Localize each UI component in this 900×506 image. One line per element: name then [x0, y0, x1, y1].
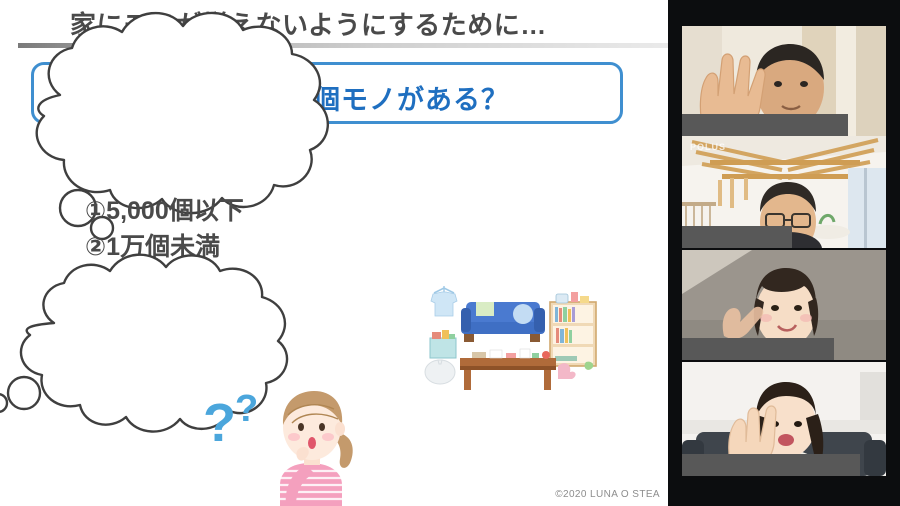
sofa-icon: [461, 302, 545, 342]
participant-4-name-redaction: [682, 454, 860, 476]
screen-root: 家にモノが増えないようにするために… 家の中には何個モノがある？ ①5,000個…: [0, 0, 900, 506]
participant-2-name-redaction: [682, 226, 792, 248]
video-participants-panel: POLUS: [668, 0, 900, 506]
answer-option-1: ①5,000個以下: [85, 193, 335, 229]
svg-text:?: ?: [235, 388, 258, 430]
thinking-woman-illustration: [262, 385, 367, 506]
video-tile-participant-3[interactable]: [682, 250, 886, 360]
bookshelf-icon: [550, 292, 596, 366]
participant-3-name-redaction: [682, 338, 834, 360]
beanbag-icon: [425, 360, 455, 384]
toy-box-icon: [430, 330, 456, 358]
living-room-illustration: [420, 280, 610, 400]
video-tile-participant-4[interactable]: [682, 362, 886, 476]
copyright-notice: ©2020 LUNA O STEA: [555, 489, 660, 500]
coffee-table-icon: [460, 349, 556, 390]
participant-1-name-redaction: [682, 114, 848, 136]
polus-watermark: POLUS: [690, 142, 726, 152]
svg-text:?: ?: [203, 393, 236, 453]
presentation-slide: 家にモノが増えないようにするために… 家の中には何個モノがある？ ①5,000個…: [0, 0, 668, 506]
video-tile-participant-1[interactable]: [682, 26, 886, 136]
hanging-shirt-icon: [431, 286, 457, 316]
video-tile-participant-2[interactable]: POLUS: [682, 136, 886, 248]
